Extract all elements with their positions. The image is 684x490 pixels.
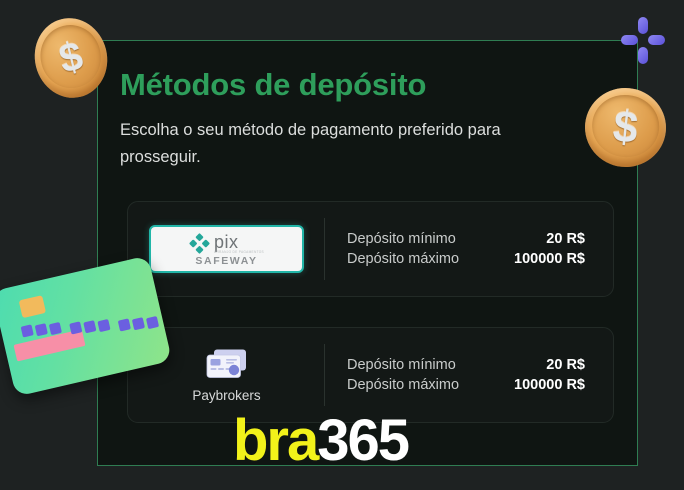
plus-petal-right [648,35,665,45]
paybrokers-amounts: Depósito mínimo 20 R$ Depósito máximo 10… [325,357,613,393]
paybrokers-max-value: 100000 R$ [514,377,585,393]
watermark-part-one: bra [233,408,317,473]
coin-inner [34,19,106,94]
watermark-part-two: 365 [317,408,408,473]
pix-logo-top: pix ARRANJO DE PAGAMENTOS [189,233,264,254]
card-digit [69,321,82,334]
paybrokers-max-label: Depósito máximo [347,377,459,393]
payment-method-pix-safeway[interactable]: pix ARRANJO DE PAGAMENTOS SAFEWAY Depósi… [127,201,614,297]
pix-min-label: Depósito mínimo [347,231,456,247]
pix-diamond-icon [189,233,210,254]
pix-microtext: ARRANJO DE PAGAMENTOS [214,250,264,254]
pix-safeway-label: SAFEWAY [195,255,257,267]
plus-petal-top [638,17,648,34]
panel-heading: Métodos de depósito Escolha o seu método… [120,66,600,171]
pix-max-line: Depósito máximo 100000 R$ [347,251,585,267]
bank-cards-icon [204,348,250,384]
pix-min-value: 20 R$ [546,231,585,247]
plus-petal-bottom [638,47,648,64]
paybrokers-max-line: Depósito máximo 100000 R$ [347,377,585,393]
card-digit [21,324,34,337]
page-subtitle: Escolha o seu método de pagamento prefer… [120,117,575,171]
page-title: Métodos de depósito [120,66,600,104]
paybrokers-logo: Paybrokers [192,348,260,403]
paybrokers-min-label: Depósito mínimo [347,357,456,373]
paybrokers-name: Paybrokers [192,388,260,403]
pix-wordmark: pix [214,233,239,251]
card-digit [49,322,62,335]
pix-max-label: Depósito máximo [347,251,459,267]
paybrokers-min-line: Depósito mínimo 20 R$ [347,357,585,373]
pix-min-line: Depósito mínimo 20 R$ [347,231,585,247]
card-digit [35,323,48,336]
brand-watermark: bra365 [233,410,408,472]
pix-max-value: 100000 R$ [514,251,585,267]
card-digit [83,320,96,333]
page-root: Métodos de depósito Escolha o seu método… [0,0,684,490]
paybrokers-min-value: 20 R$ [546,357,585,373]
pix-logo-cell: pix ARRANJO DE PAGAMENTOS SAFEWAY [128,201,325,297]
card-chip [19,295,46,318]
card-stripe [13,329,85,361]
pix-amounts: Depósito mínimo 20 R$ Depósito máximo 10… [325,231,613,267]
pix-logo: pix ARRANJO DE PAGAMENTOS SAFEWAY [149,225,304,273]
